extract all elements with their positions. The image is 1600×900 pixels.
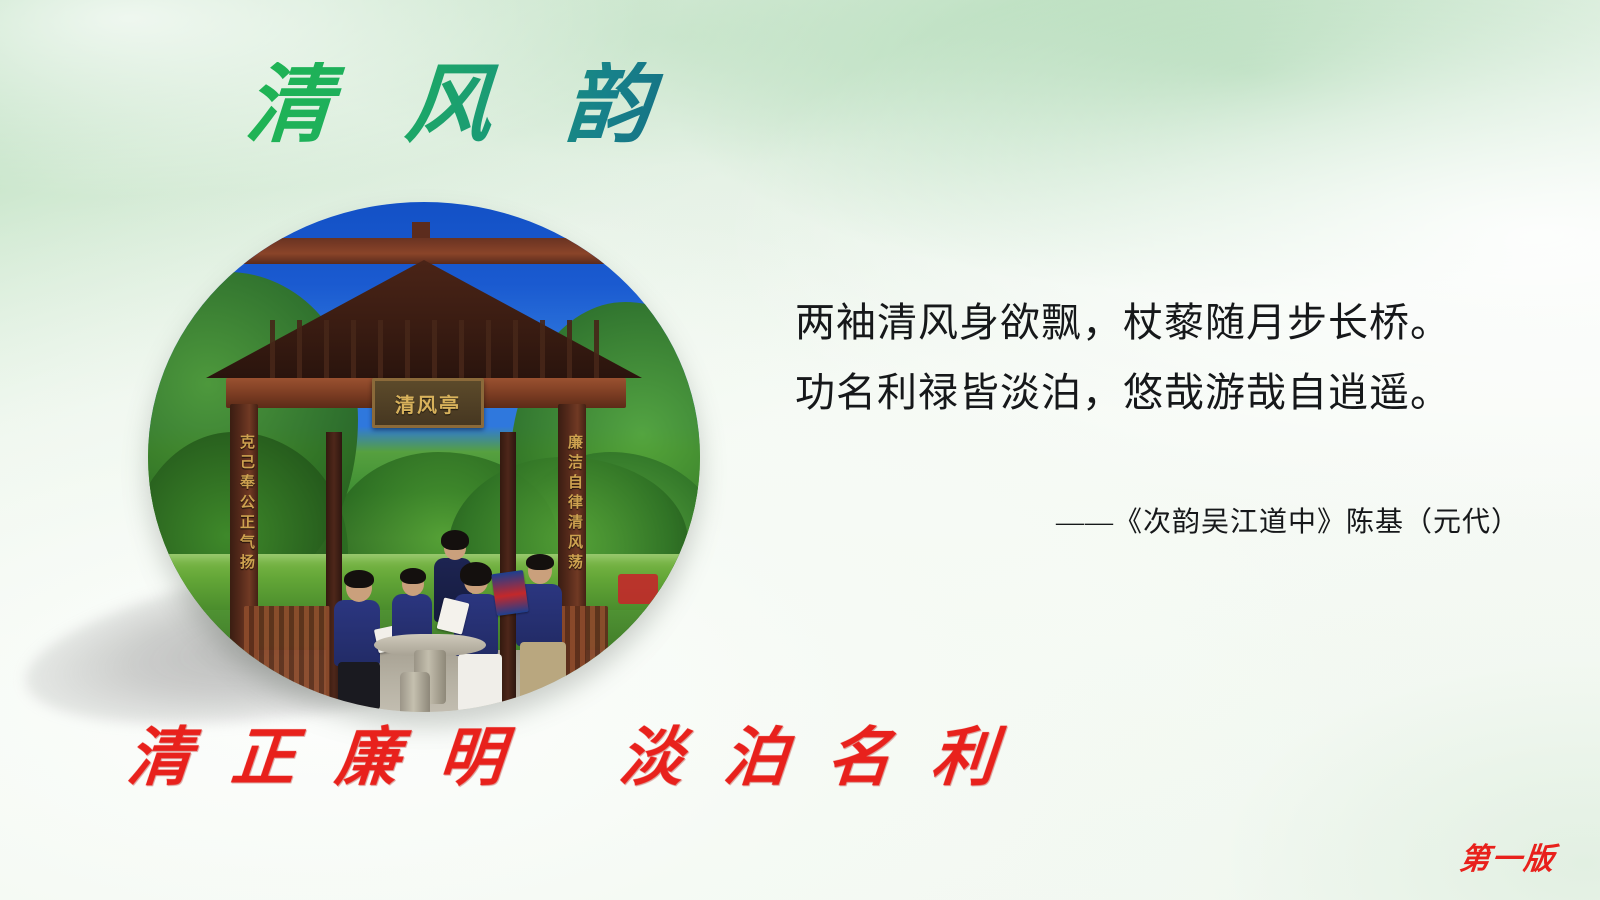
pavilion-inner-post-right xyxy=(500,432,516,704)
page-title: 清 风 韵 xyxy=(243,62,680,148)
poem-line-1: 两袖清风身欲飘，杖藜随月步长桥。 xyxy=(795,288,1455,358)
pillar-couplet-right: 廉洁自律清风荡 xyxy=(560,434,584,574)
wooden-bench-left xyxy=(244,606,330,702)
background-red-object xyxy=(618,574,658,604)
poster-canvas: 清 风 韵 清风亭 xyxy=(0,0,1600,900)
poem-block: 两袖清风身欲飘，杖藜随月步长桥。 功名利禄皆淡泊，悠哉游哉自逍遥。 xyxy=(795,288,1455,428)
photo-scene: 清风亭 克己奉公正气扬 廉洁自律清风荡 xyxy=(148,202,700,712)
pavilion-plaque: 清风亭 xyxy=(372,378,484,428)
page-number-badge: 第一版 xyxy=(1458,834,1559,878)
plaque-text: 清风亭 xyxy=(395,389,461,418)
poem-attribution: ——《次韵吴江道中》陈基（元代） xyxy=(795,500,1520,540)
red-slogan: 清 正 廉 明 淡 泊 名 利 xyxy=(124,706,1012,798)
pillar-couplet-left: 克己奉公正气扬 xyxy=(232,434,256,574)
circular-photo: 清风亭 克己奉公正气扬 廉洁自律清风荡 xyxy=(148,202,700,712)
poem-line-2: 功名利禄皆淡泊，悠哉游哉自逍遥。 xyxy=(795,358,1455,428)
roof-truss xyxy=(248,320,600,380)
